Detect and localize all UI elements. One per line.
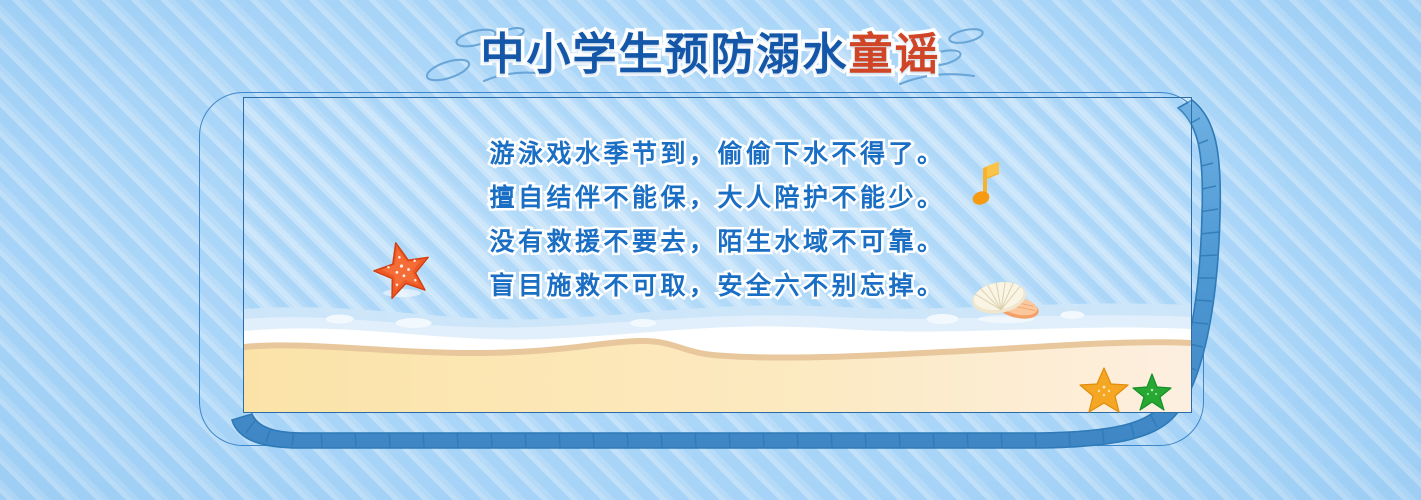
poem-line: 游泳戏水季节到，偷偷下水不得了。 [244, 132, 1191, 176]
poem-line: 擅自结伴不能保，大人陪护不能少。 [244, 176, 1191, 220]
poster-banner: 中小学生预防溺水童谣 [0, 0, 1421, 500]
poem-block: 游泳戏水季节到，偷偷下水不得了。 擅自结伴不能保，大人陪护不能少。 没有救援不要… [244, 132, 1191, 308]
beach-illustration [244, 297, 1191, 412]
content-panel: 游泳戏水季节到，偷偷下水不得了。 擅自结伴不能保，大人陪护不能少。 没有救援不要… [243, 97, 1192, 413]
title-segment-blue: 中小学生预防溺水 [481, 30, 849, 79]
poem-line: 盲目施救不可取，安全六不别忘掉。 [244, 264, 1191, 308]
page-title: 中小学生预防溺水童谣 [481, 33, 941, 77]
title-segment-red: 童谣 [849, 30, 941, 79]
poem-line: 没有救援不要去，陌生水域不可靠。 [244, 220, 1191, 264]
title-container: 中小学生预防溺水童谣 [0, 16, 1421, 94]
